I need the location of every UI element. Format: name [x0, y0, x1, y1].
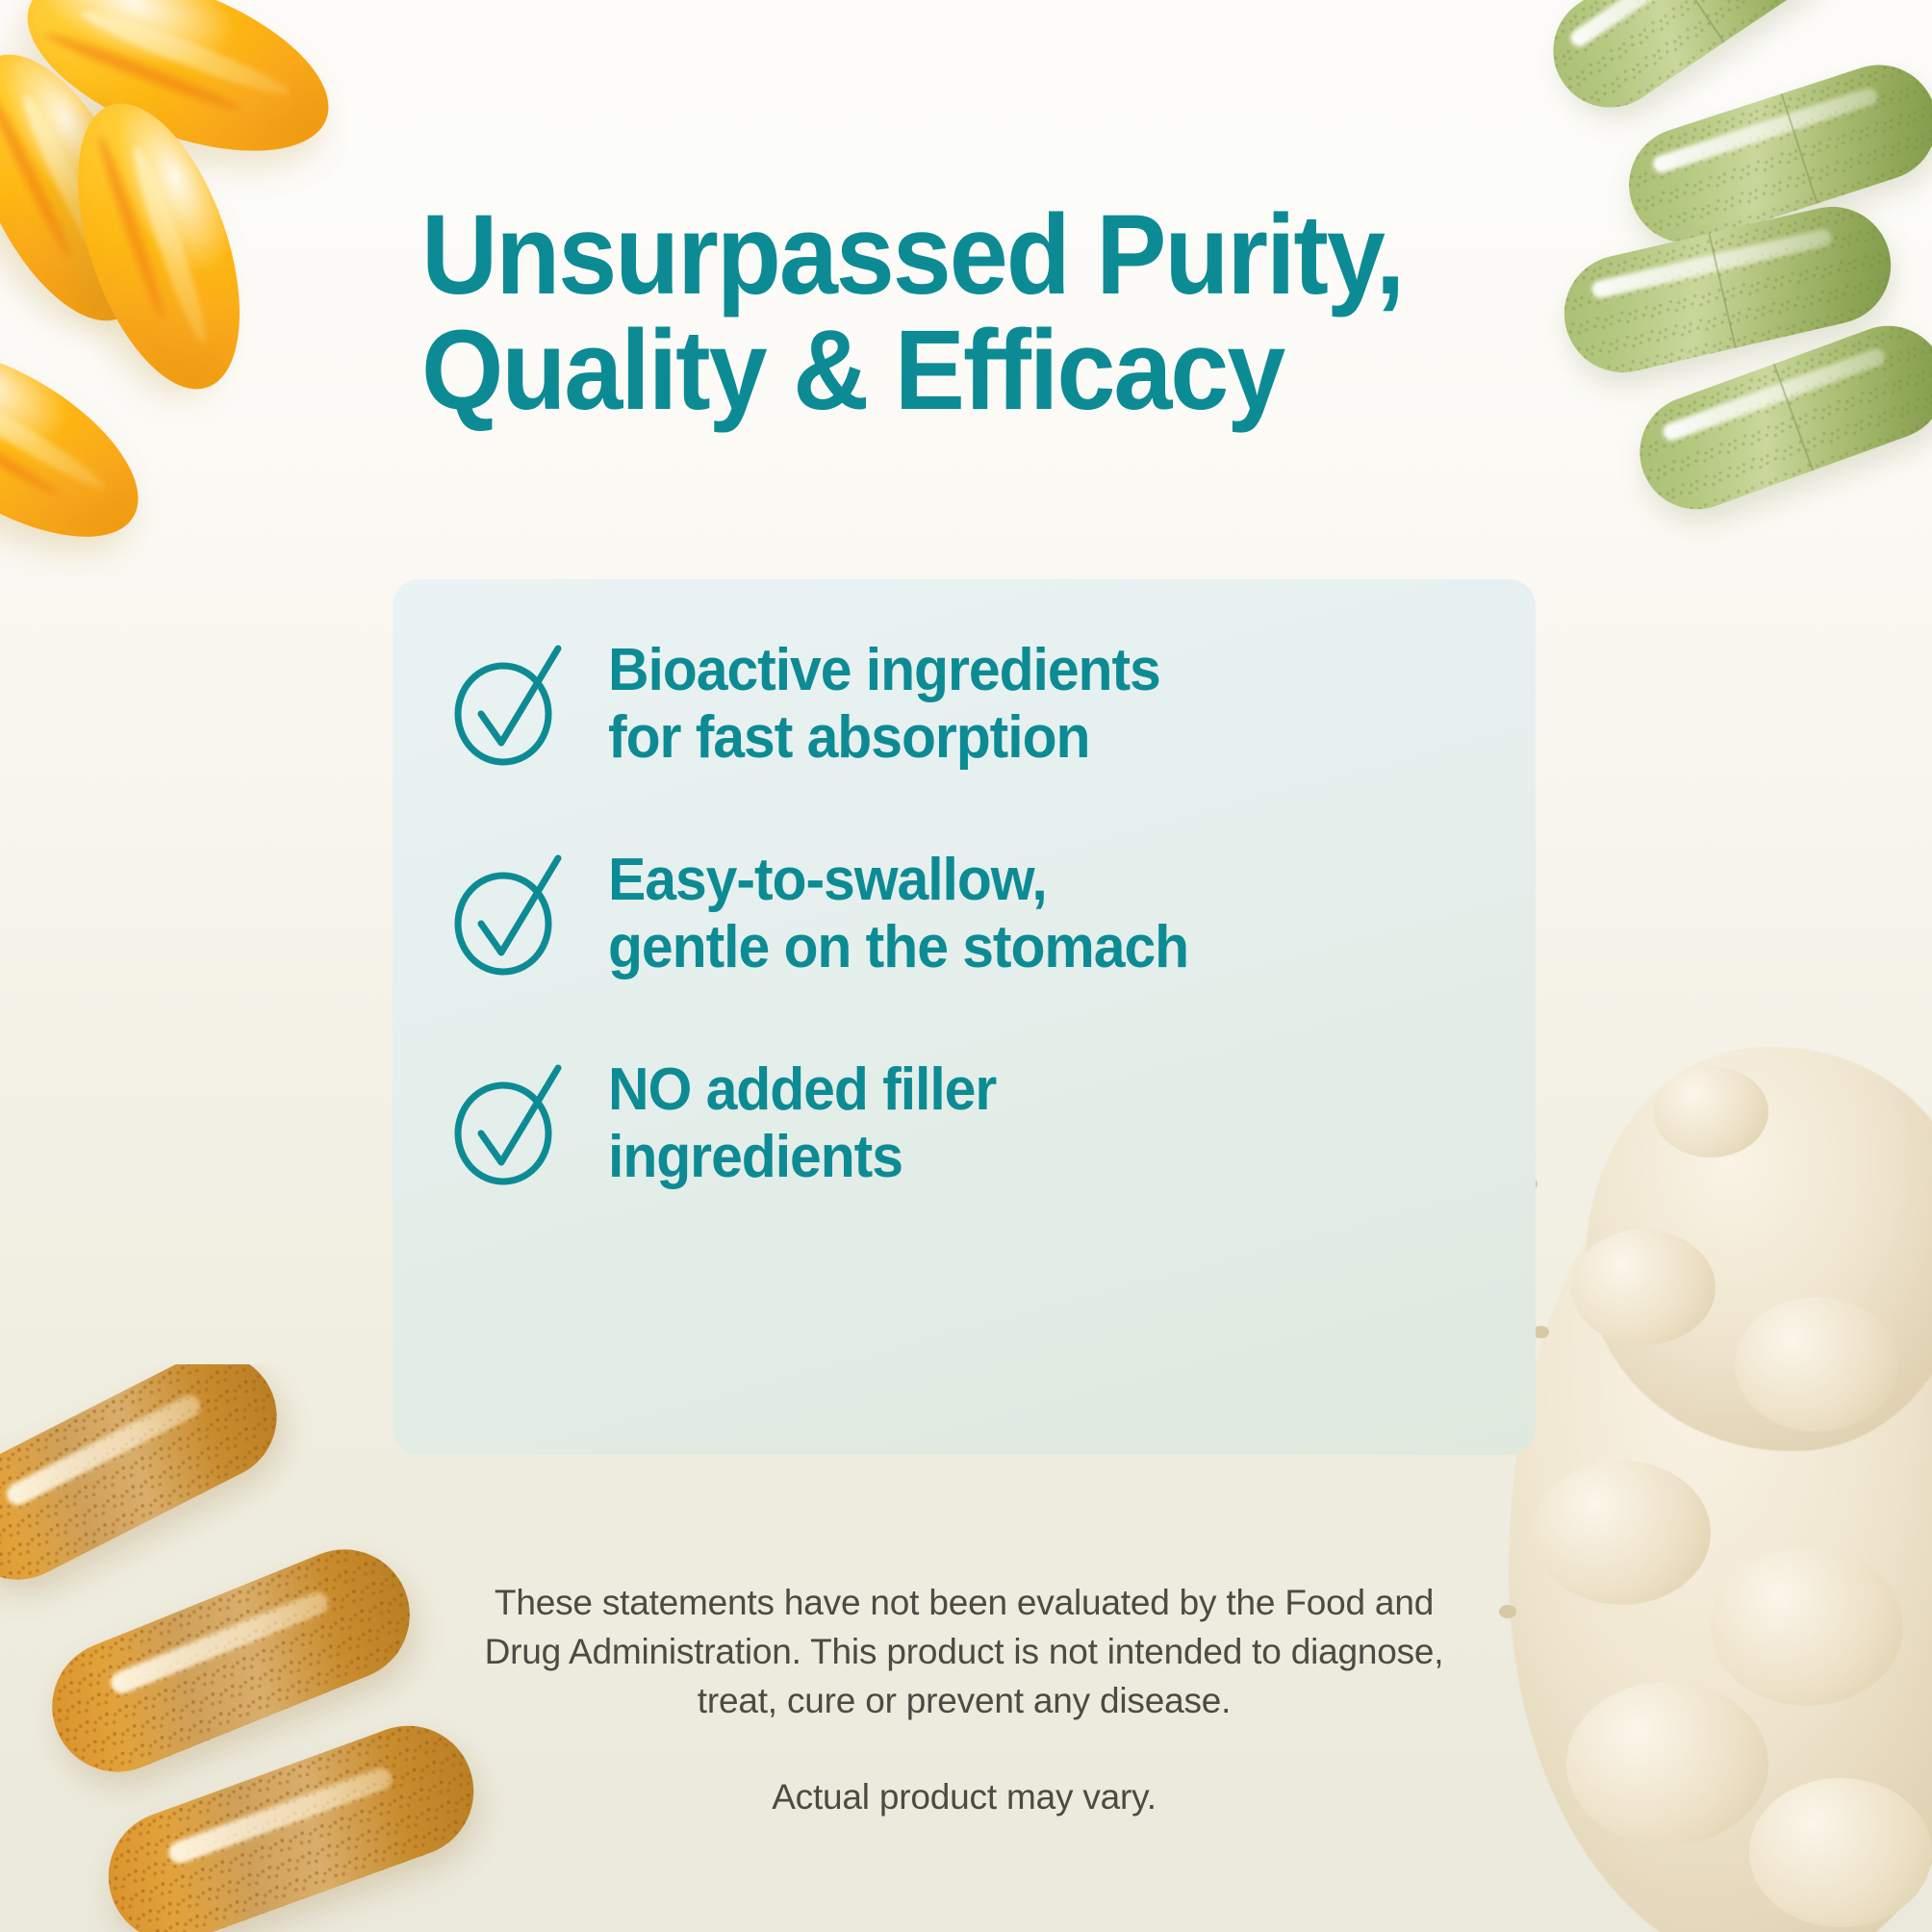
powder-clump: [1711, 1547, 1903, 1706]
feature-list: Bioactive ingredients for fast absorptio…: [450, 637, 1497, 1191]
yellow-softgel-capsules-photo: [0, 0, 346, 654]
capsule-powder-texture: [90, 1708, 493, 1932]
green-capsule: [1553, 195, 1903, 384]
disclaimer-line-2: Drug Administration. This product is not…: [389, 1627, 1539, 1676]
green-capsule: [1614, 50, 1932, 258]
green-herbal-capsules-photo: [1509, 0, 1932, 548]
powder-speck: [0, 1509, 4, 1518]
feature-highlights-panel: Bioactive ingredients for fast absorptio…: [393, 579, 1536, 1455]
powder-speck: [24, 1482, 34, 1490]
capsule-powder-texture: [1553, 195, 1903, 384]
powder-clump: [1653, 1066, 1768, 1157]
powder-mound: [1509, 1124, 1932, 1932]
capsule-powder-texture: [1614, 50, 1932, 258]
capsule-powder-texture: [0, 1364, 298, 1602]
capsule-powder-texture: [1624, 310, 1932, 525]
capsule-highlight: [3, 1392, 204, 1509]
softgel-capsule: [0, 8, 44, 234]
capsule-highlight: [166, 1766, 395, 1867]
list-item: Easy-to-swallow, gentle on the stomach: [450, 847, 1497, 981]
capsule-seam: [1773, 364, 1814, 471]
feature-label: Bioactive ingredients for fast absorptio…: [608, 637, 1160, 772]
green-capsule: [1532, 0, 1843, 130]
powder-mound: [1586, 1047, 1932, 1451]
capsule-seam: [1780, 93, 1818, 204]
capsule-highlight: [1651, 86, 1880, 175]
capsule-highlight: [1589, 228, 1833, 300]
actual-product-note: Actual product may vary.: [389, 1777, 1539, 1818]
capsule-powder-texture: [1532, 0, 1843, 130]
capsule-seam: [1660, 0, 1725, 42]
page-title: Unsurpassed Purity, Quality & Efficacy: [421, 197, 1424, 429]
softgel-capsule: [45, 83, 271, 409]
capsule-powder-texture: [33, 1530, 430, 1792]
disclaimer-line-1: These statements have not been evaluated…: [389, 1578, 1539, 1627]
checkmark-circle-icon: [450, 1060, 568, 1187]
headline-line-2: Quality & Efficacy: [421, 313, 1424, 428]
headline-line-1: Unsurpassed Purity,: [421, 197, 1424, 313]
fda-disclaimer: These statements have not been evaluated…: [389, 1578, 1539, 1725]
infographic-canvas: Unsurpassed Purity, Quality & Efficacy B…: [0, 0, 1932, 1932]
capsule-highlight: [108, 1589, 332, 1697]
softgel-capsule: [4, 0, 346, 187]
turmeric-capsule: [90, 1708, 493, 1932]
feature-label: NO added filler ingredients: [608, 1056, 996, 1191]
disclaimer-line-3: treat, cure or prevent any disease.: [389, 1676, 1539, 1725]
powder-clump: [1533, 1461, 1711, 1605]
softgel-capsule: [0, 311, 168, 575]
list-item: NO added filler ingredients: [450, 1056, 1497, 1191]
powder-clump: [1566, 1682, 1768, 1845]
powder-clump: [1571, 1230, 1716, 1345]
feature-label: Easy-to-swallow, gentle on the stomach: [608, 847, 1188, 981]
capsule-seam: [1708, 234, 1736, 348]
powder-clump: [1735, 1297, 1898, 1432]
powder-clump: [1749, 1778, 1932, 1927]
turmeric-capsule: [33, 1530, 430, 1792]
capsule-highlight: [1661, 346, 1888, 443]
list-item: Bioactive ingredients for fast absorptio…: [450, 637, 1497, 772]
green-capsule: [1624, 310, 1932, 525]
capsule-highlight: [1567, 0, 1760, 50]
checkmark-circle-icon: [450, 641, 568, 768]
turmeric-capsule: [0, 1364, 298, 1602]
checkmark-circle-icon: [450, 851, 568, 978]
softgel-capsule: [0, 28, 182, 346]
